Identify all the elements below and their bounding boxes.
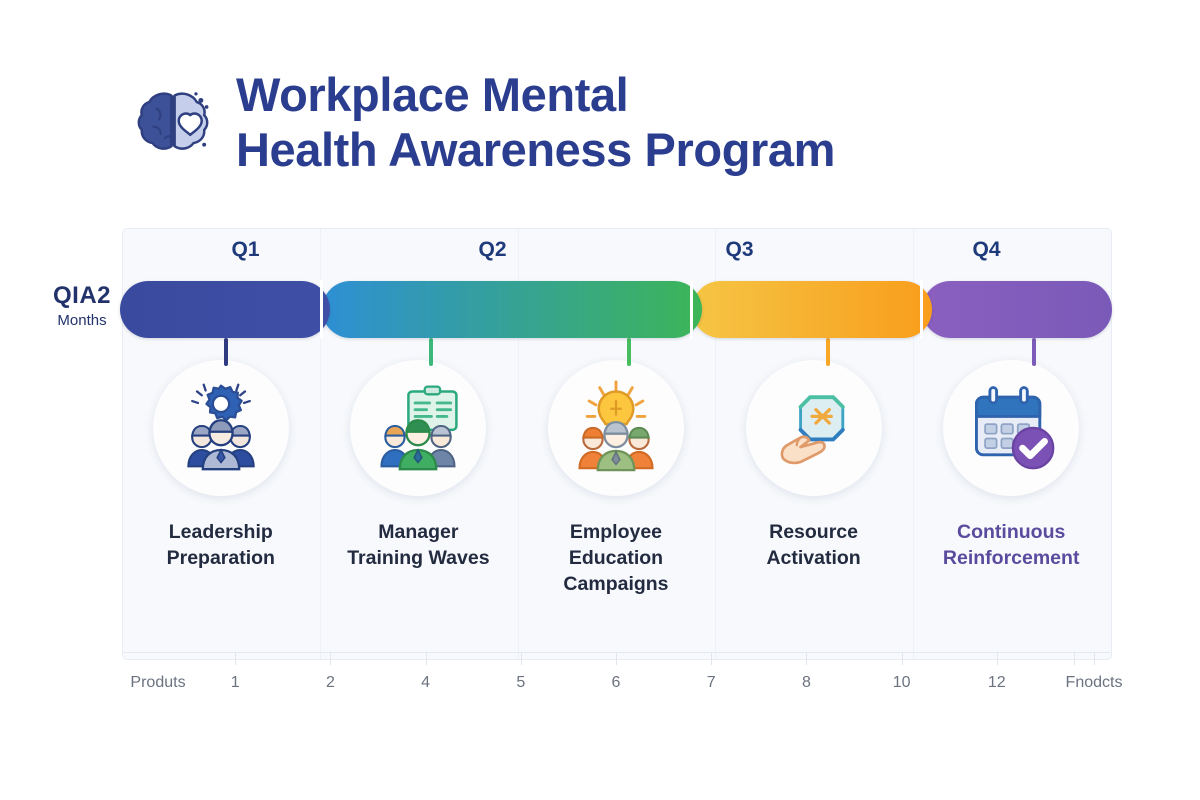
stem-manager <box>429 338 433 366</box>
axis-start-label: Produts <box>130 674 185 692</box>
milestone-caption: ResourceActivation <box>766 520 860 572</box>
axis-end-label: Fnodcts <box>1066 674 1123 692</box>
axis-tick-label: 10 <box>893 674 911 692</box>
duration-unit: Months <box>44 312 120 329</box>
axis-tick-label: 1 <box>231 674 240 692</box>
milestone-continuous-reinforcement[interactable]: ContinuousReinforcement <box>912 360 1110 620</box>
milestone-icon-circle <box>153 360 289 496</box>
stem-resource <box>826 338 830 366</box>
milestone-icon-circle <box>548 360 684 496</box>
axis-tick-label: 12 <box>988 674 1006 692</box>
milestone-icon-circle <box>943 360 1079 496</box>
milestone-icon-circle <box>746 360 882 496</box>
milestone-resource-activation[interactable]: ResourceActivation <box>715 360 913 620</box>
milestone-caption: ManagerTraining Waves <box>347 520 489 572</box>
axis-tick <box>235 652 236 665</box>
segment-divider <box>320 280 323 339</box>
axis-tick <box>426 652 427 665</box>
milestone-manager-training[interactable]: ManagerTraining Waves <box>320 360 518 620</box>
brain-heart-icon <box>132 84 214 166</box>
milestone-employee-education[interactable]: EmployeeEducationCampaigns <box>517 360 715 620</box>
timeline-bar <box>120 281 1112 338</box>
axis-tick-label: 6 <box>612 674 621 692</box>
axis-tick <box>1094 652 1095 665</box>
page-title: Workplace Mental Health Awareness Progra… <box>236 68 835 178</box>
axis-tick <box>711 652 712 665</box>
manager-training-board-icon <box>370 378 466 479</box>
q4-segment <box>922 281 1112 338</box>
quarter-label-q1: Q1 <box>122 238 369 272</box>
title-line-1: Workplace Mental <box>236 68 835 123</box>
axis-tick <box>521 652 522 665</box>
quarter-label-q4: Q4 <box>863 238 1110 272</box>
q2-segment <box>322 281 702 338</box>
axis-tick <box>806 652 807 665</box>
leadership-team-gear-icon <box>173 378 269 479</box>
quarter-label-q3: Q3 <box>616 238 863 272</box>
timeline-axis: Produts12456781012Fnodcts <box>122 652 1110 702</box>
stem-continuous <box>1032 338 1036 366</box>
milestone-leadership[interactable]: LeadershipPreparation <box>122 360 320 620</box>
duration-value: QIA2 <box>44 283 120 309</box>
axis-tick-label: 5 <box>516 674 525 692</box>
axis-tick-label: 7 <box>707 674 716 692</box>
quarter-header-row: Q1 Q2 Q3 Q4 <box>122 238 1110 272</box>
milestone-caption: LeadershipPreparation <box>167 520 275 572</box>
axis-tick <box>616 652 617 665</box>
milestone-caption: EmployeeEducationCampaigns <box>563 520 668 598</box>
milestone-icon-circle <box>350 360 486 496</box>
stem-employee <box>627 338 631 366</box>
hand-resource-icon <box>766 378 862 479</box>
page-header: Workplace Mental Health Awareness Progra… <box>132 68 835 178</box>
axis-tick <box>997 652 998 665</box>
quarter-label-q2: Q2 <box>369 238 616 272</box>
stem-leadership <box>224 338 228 366</box>
axis-tick-label: 4 <box>421 674 430 692</box>
employee-lightbulb-icon <box>568 378 664 479</box>
axis-tick <box>1074 652 1075 665</box>
q3-segment <box>692 281 932 338</box>
axis-tick <box>902 652 903 665</box>
milestone-caption: ContinuousReinforcement <box>943 520 1080 572</box>
duration-side-label: QIA2 Months <box>44 283 120 329</box>
q1-segment <box>120 281 330 338</box>
axis-tick-label: 8 <box>802 674 811 692</box>
milestone-row: LeadershipPreparation <box>122 360 1110 620</box>
title-line-2: Health Awareness Program <box>236 123 835 178</box>
calendar-check-icon <box>963 378 1059 479</box>
axis-tick-label: 2 <box>326 674 335 692</box>
axis-tick <box>330 652 331 665</box>
segment-divider <box>920 280 923 339</box>
segment-divider <box>690 280 693 339</box>
